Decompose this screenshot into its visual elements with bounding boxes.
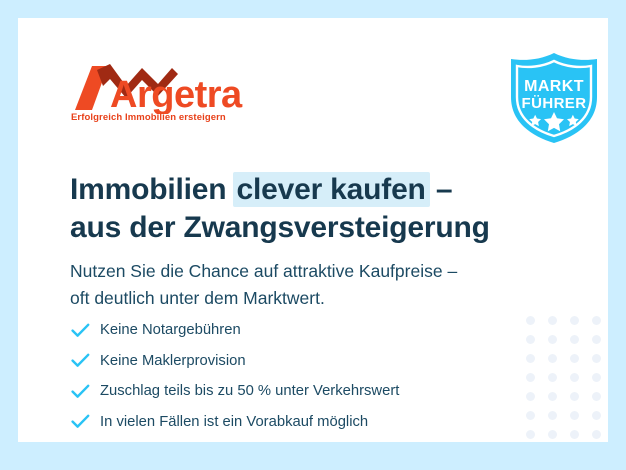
decorative-dot	[526, 354, 535, 363]
benefit-label: Keine Maklerprovision	[97, 353, 246, 369]
checkmark-icon	[71, 414, 97, 429]
svg-text:Argetra: Argetra	[110, 74, 243, 114]
decorative-dot	[570, 354, 579, 363]
headline-post: –	[428, 173, 453, 206]
decorative-dot	[592, 411, 601, 420]
checkmark-icon	[71, 323, 97, 338]
decorative-dot	[592, 392, 601, 401]
logo-tagline: Erfolgreich Immobilien ersteigern	[71, 112, 226, 123]
market-leader-badge: MARKT FÜHRER	[504, 50, 604, 146]
subheadline: Nutzen Sie die Chance auf attraktive Kau…	[70, 258, 570, 312]
decorative-dot	[548, 316, 557, 325]
benefit-item: Zuschlag teils bis zu 50 % unter Verkehr…	[71, 376, 511, 407]
decorative-dot	[570, 392, 579, 401]
decorative-dot	[592, 316, 601, 325]
decorative-dot	[526, 373, 535, 382]
banner-card: Argetra Erfolgreich Immobilien ersteiger…	[18, 18, 608, 442]
benefit-item: Keine Maklerprovision	[71, 346, 511, 377]
benefit-label: Zuschlag teils bis zu 50 % unter Verkehr…	[97, 383, 399, 399]
headline: Immobilien clever kaufen – aus der Zwang…	[70, 171, 570, 247]
decorative-dot	[548, 335, 557, 344]
subheadline-line-1: Nutzen Sie die Chance auf attraktive Kau…	[70, 258, 570, 285]
decorative-dot	[570, 373, 579, 382]
decorative-dot	[526, 430, 535, 439]
decorative-dot	[592, 335, 601, 344]
headline-line-1: Immobilien clever kaufen –	[70, 171, 570, 209]
checkmark-icon	[71, 353, 97, 368]
decorative-dot	[526, 335, 535, 344]
decorative-dot	[592, 430, 601, 439]
badge-line-1: MARKT	[524, 78, 584, 95]
decorative-dot	[548, 392, 557, 401]
promo-banner: Argetra Erfolgreich Immobilien ersteiger…	[0, 0, 626, 470]
decorative-dot	[570, 335, 579, 344]
decorative-dot	[526, 316, 535, 325]
decorative-dot-grid	[526, 316, 608, 442]
decorative-dot	[548, 373, 557, 382]
decorative-dot	[526, 392, 535, 401]
decorative-dot	[592, 373, 601, 382]
benefits-list: Keine NotargebührenKeine Maklerprovision…	[71, 315, 511, 437]
headline-highlight: clever kaufen	[233, 172, 430, 207]
decorative-dot	[548, 411, 557, 420]
decorative-dot	[570, 411, 579, 420]
benefit-label: Keine Notargebühren	[97, 322, 241, 338]
checkmark-icon	[71, 384, 97, 399]
decorative-dot	[570, 430, 579, 439]
benefit-label: In vielen Fällen ist ein Vorabkauf mögli…	[97, 414, 368, 430]
benefit-item: In vielen Fällen ist ein Vorabkauf mögli…	[71, 407, 511, 438]
argetra-logo[interactable]: Argetra Erfolgreich Immobilien ersteiger…	[70, 62, 270, 132]
decorative-dot	[548, 354, 557, 363]
badge-line-2: FÜHRER	[522, 95, 587, 112]
argetra-roof-a-icon: Argetra	[70, 62, 270, 114]
headline-pre: Immobilien	[70, 173, 235, 206]
headline-line-2: aus der Zwangsversteigerung	[70, 209, 570, 247]
decorative-dot	[570, 316, 579, 325]
decorative-dot	[592, 354, 601, 363]
decorative-dot	[526, 411, 535, 420]
subheadline-line-2: oft deutlich unter dem Marktwert.	[70, 285, 570, 312]
benefit-item: Keine Notargebühren	[71, 315, 511, 346]
decorative-dot	[548, 430, 557, 439]
